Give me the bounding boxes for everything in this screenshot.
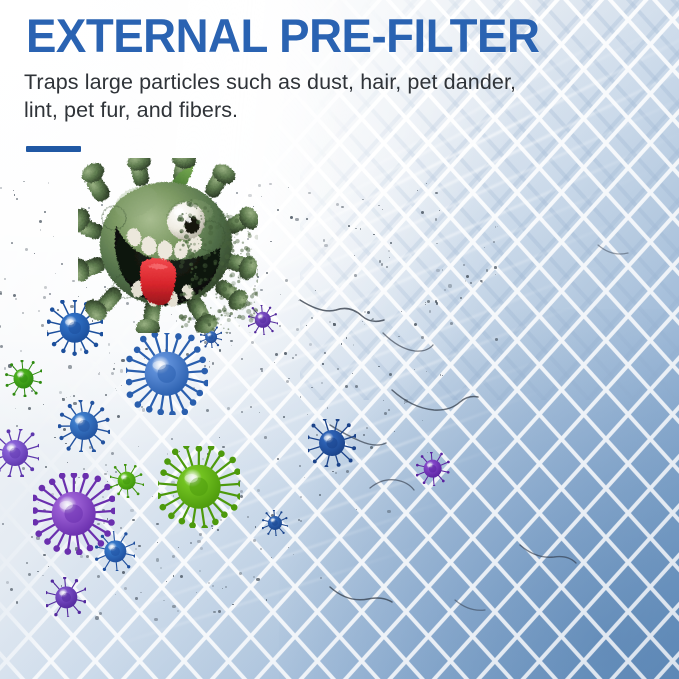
virus-blue-5 bbox=[308, 419, 356, 467]
virus-green-2 bbox=[158, 446, 239, 527]
virus-blue-2 bbox=[126, 333, 207, 414]
green-germ-monster bbox=[78, 158, 258, 333]
virus-green-1 bbox=[5, 360, 42, 397]
virus-purple-1 bbox=[0, 429, 39, 477]
virus-green-3 bbox=[110, 464, 143, 497]
page-subtitle: Traps large particles such as dust, hair… bbox=[24, 68, 516, 124]
virus-blue-6 bbox=[262, 510, 288, 536]
external-pre-filter-infographic: EXTERNAL PRE-FILTER Traps large particle… bbox=[0, 0, 679, 679]
virus-purple-5 bbox=[416, 452, 449, 485]
page-title: EXTERNAL PRE-FILTER bbox=[26, 12, 539, 59]
virus-blue-3 bbox=[58, 400, 110, 452]
virus-purple-3 bbox=[46, 577, 87, 618]
accent-rule bbox=[26, 146, 81, 152]
virus-blue-4 bbox=[95, 531, 136, 572]
